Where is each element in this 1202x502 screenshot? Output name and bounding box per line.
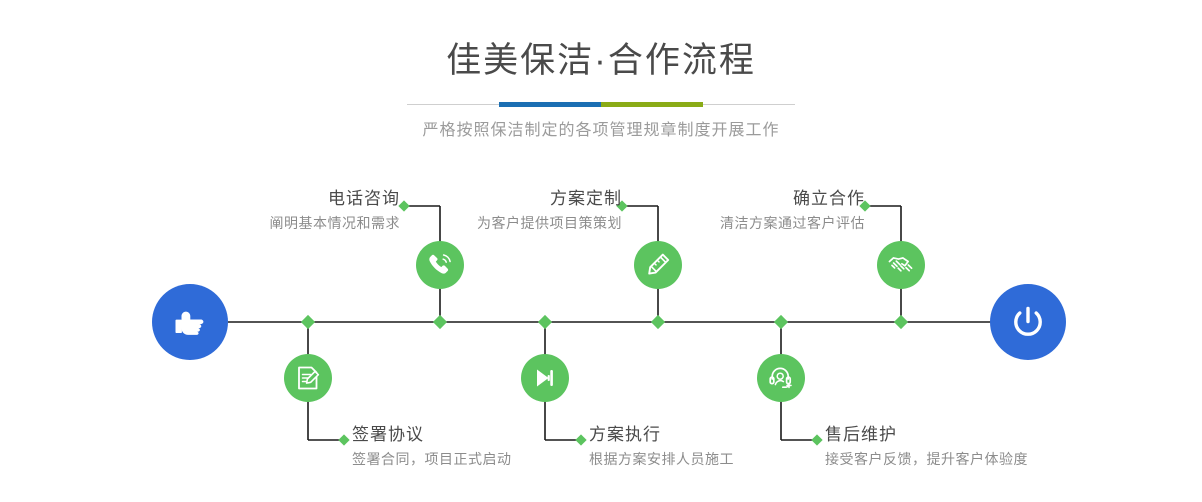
label-node-markers	[338, 200, 870, 445]
spine-diamond-3	[538, 315, 552, 329]
step-text-step-1: 电话咨询 阐明基本情况和需求	[270, 188, 401, 233]
infographic-root: 佳美保洁·合作流程 严格按照保洁制定的各项管理规章制度开展工作	[0, 0, 1202, 502]
spine-diamond-2	[433, 315, 447, 329]
timeline-end-endpoint[interactable]	[990, 284, 1066, 360]
step-title-step-1: 电话咨询	[270, 188, 401, 210]
process-timeline: 电话咨询 阐明基本情况和需求 方案定制 为客户提供项目策策划	[0, 0, 1202, 502]
customer-service-icon	[766, 363, 796, 393]
step-desc-step-2: 签署合同，项目正式启动	[352, 449, 512, 469]
step-text-step-2: 签署协议 签署合同，项目正式启动	[352, 424, 512, 469]
label-diamond-step-6	[811, 434, 822, 445]
step-icon-step-3[interactable]	[634, 241, 682, 289]
step-icon-step-4[interactable]	[521, 354, 569, 402]
step-title-step-6: 售后维护	[825, 424, 1028, 446]
timeline-start-endpoint[interactable]	[152, 284, 228, 360]
play-execute-icon	[530, 363, 560, 393]
step-title-step-5: 确立合作	[720, 188, 865, 210]
step-icon-step-2[interactable]	[284, 354, 332, 402]
step-title-step-2: 签署协议	[352, 424, 512, 446]
step-desc-step-6: 接受客户反馈，提升客户体验度	[825, 449, 1028, 469]
phone-call-icon	[425, 250, 455, 280]
step-desc-step-1: 阐明基本情况和需求	[270, 213, 401, 233]
step-title-step-4: 方案执行	[589, 424, 734, 446]
step-desc-step-3: 为客户提供项目策策划	[477, 213, 622, 233]
label-diamond-step-2	[338, 434, 349, 445]
step-text-step-3: 方案定制 为客户提供项目策策划	[477, 188, 622, 233]
step-icon-step-1[interactable]	[416, 241, 464, 289]
spine-diamond-1	[301, 315, 315, 329]
step-desc-step-4: 根据方案安排人员施工	[589, 449, 734, 469]
step-title-step-3: 方案定制	[477, 188, 622, 210]
power-button-icon	[1006, 300, 1050, 344]
step-text-step-5: 确立合作 清洁方案通过客户评估	[720, 188, 865, 233]
spine-diamond-4	[651, 315, 665, 329]
step-text-step-4: 方案执行 根据方案安排人员施工	[589, 424, 734, 469]
label-diamond-step-4	[575, 434, 586, 445]
step-icon-step-6[interactable]	[757, 354, 805, 402]
spine-diamond-6	[894, 315, 908, 329]
step-icon-step-5[interactable]	[877, 241, 925, 289]
pointing-hand-icon	[168, 300, 212, 344]
step-desc-step-5: 清洁方案通过客户评估	[720, 213, 865, 233]
step-text-step-6: 售后维护 接受客户反馈，提升客户体验度	[825, 424, 1028, 469]
label-diamond-step-1	[398, 200, 409, 211]
handshake-icon	[886, 250, 916, 280]
pencil-ruler-icon	[643, 250, 673, 280]
spine-diamond-5	[774, 315, 788, 329]
document-sign-icon	[293, 363, 323, 393]
